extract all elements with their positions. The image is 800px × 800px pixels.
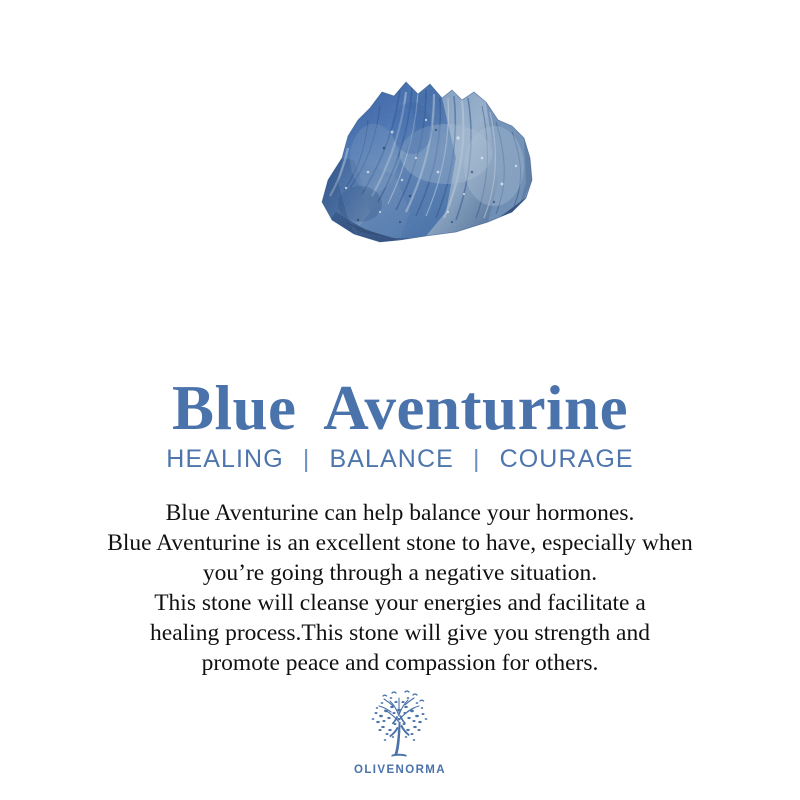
description-line: promote peace and compassion for others. xyxy=(30,648,770,678)
brand-wordmark: OLIVENORMA xyxy=(354,764,446,776)
keyword-list: HEALING | BALANCE | COURAGE xyxy=(0,446,800,474)
description-line: This stone will cleanse your energies an… xyxy=(30,588,770,618)
keyword-healing: HEALING xyxy=(166,445,283,473)
description-line: Blue Aventurine is an excellent stone to… xyxy=(30,528,770,558)
keyword-separator: | xyxy=(462,445,492,473)
stone-info-card: Blue Aventurine HEALING | BALANCE | COUR… xyxy=(0,0,800,800)
keyword-separator: | xyxy=(292,445,322,473)
keyword-courage: COURAGE xyxy=(500,445,634,473)
description-line: you’re going through a negative situatio… xyxy=(30,558,770,588)
olive-tree-icon xyxy=(361,686,439,762)
keyword-balance: BALANCE xyxy=(329,445,453,473)
page-title: Blue Aventurine xyxy=(0,375,800,441)
description-line: healing process.This stone will give you… xyxy=(30,618,770,648)
stone-image xyxy=(250,62,570,262)
description-text: Blue Aventurine can help balance your ho… xyxy=(30,498,770,678)
description-line: Blue Aventurine can help balance your ho… xyxy=(30,498,770,528)
brand-logo: OLIVENORMA xyxy=(0,686,800,776)
